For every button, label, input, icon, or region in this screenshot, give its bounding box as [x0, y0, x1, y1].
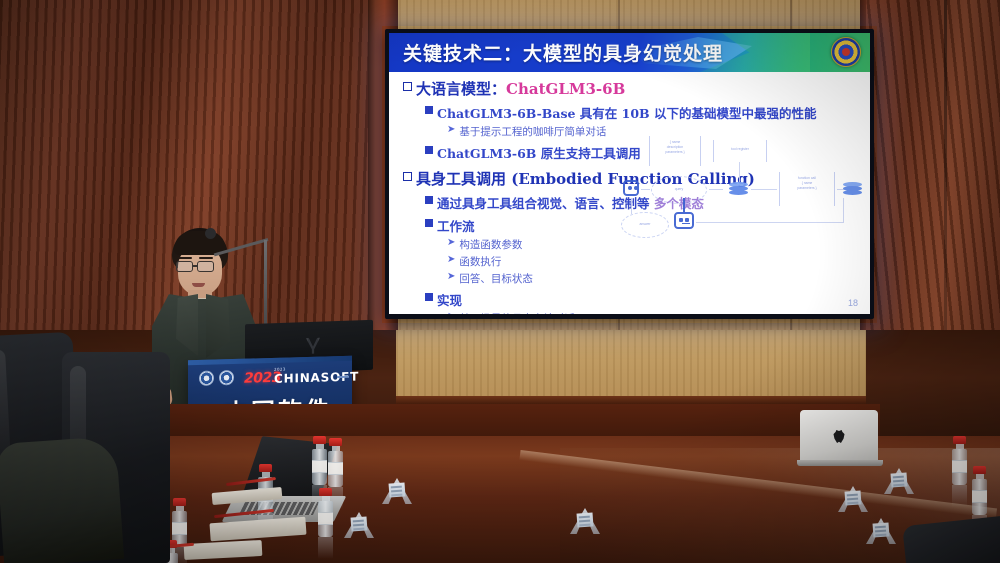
- slide-bullet: ➤ 基于场景的具身多轮对话: [447, 311, 870, 314]
- bullet-text: ChatGLM3-6B-Base 具有在 10B 以下的基础模型中最强的性能: [437, 103, 816, 122]
- name-card-holder: [838, 486, 868, 512]
- solid-square-bullet-icon: [425, 146, 433, 154]
- database-icon: [729, 182, 748, 198]
- solid-square-bullet-icon: [425, 106, 433, 114]
- bullet-text: 实现: [437, 290, 462, 309]
- solid-square-bullet-icon: [425, 293, 433, 301]
- water-bottle: [972, 466, 987, 515]
- slide-bullet: 实现: [425, 290, 870, 309]
- arrow-bullet-icon: ➤: [447, 255, 455, 265]
- slide-title: 关键技术二：大模型的具身幻觉处理: [403, 39, 723, 66]
- laptop-base: [797, 460, 883, 466]
- name-card-holder: [866, 518, 896, 544]
- arrow-bullet-icon: ➤: [447, 312, 455, 314]
- bullet-text: 回答、目标状态: [459, 271, 533, 286]
- presentation-display: 关键技术二：大模型的具身幻觉处理 大语言模型：ChatGLM3-6B ChatG…: [385, 29, 874, 319]
- slide-header-bar: 关键技术二：大模型的具身幻觉处理: [389, 33, 870, 72]
- diagram-connector: [696, 222, 844, 223]
- legion-logo-icon: [306, 338, 320, 354]
- database-icon: [843, 182, 862, 198]
- slide-body: 大语言模型：ChatGLM3-6B ChatGLM3-6B-Base 具有在 1…: [389, 72, 870, 314]
- bullet-text: 基于提示工程的咖啡厅简单对话: [459, 124, 606, 139]
- diagram-node-function-call: function call { name parameters }: [779, 176, 835, 191]
- water-bottle: [318, 488, 333, 537]
- podium-rule: [337, 376, 349, 378]
- glasses-lens: [176, 261, 193, 272]
- conference-room-screenshot: 关键技术二：大模型的具身幻觉处理 大语言模型：ChatGLM3-6B ChatG…: [0, 0, 1000, 563]
- diagram-connector: [751, 189, 777, 190]
- water-bottle: [328, 438, 343, 487]
- robot-icon: [674, 212, 694, 229]
- arrow-bullet-icon: ➤: [447, 125, 455, 135]
- macbook-laptop: [800, 410, 882, 468]
- university-emblem-icon: [831, 37, 861, 67]
- diagram-node-answer: answer: [621, 222, 669, 227]
- name-card-holder: [570, 508, 600, 534]
- slide-bullet: 大语言模型：ChatGLM3-6B: [403, 78, 870, 99]
- solid-square-bullet-icon: [425, 219, 433, 227]
- eyebrow: [178, 257, 192, 259]
- microphone-head-icon: [205, 228, 216, 239]
- arrow-bullet-icon: ➤: [447, 272, 455, 282]
- face-icon: [623, 180, 639, 196]
- diagram-node-tool-register: tool register: [713, 147, 767, 152]
- solid-square-bullet-icon: [425, 196, 433, 204]
- slide-bullet: ➤ 函数执行: [447, 254, 870, 269]
- bullet-text: 工作流: [437, 216, 475, 235]
- bullet-text: 函数执行: [459, 254, 501, 269]
- diagram-connector: [641, 189, 650, 190]
- name-card-holder: [884, 468, 914, 494]
- wall-seam: [944, 0, 947, 380]
- diagram-connector: [709, 189, 723, 190]
- hollow-square-bullet-icon: [403, 172, 412, 181]
- slide-surface: 关键技术二：大模型的具身幻觉处理 大语言模型：ChatGLM3-6B ChatG…: [389, 33, 870, 314]
- draped-jacket: [0, 436, 124, 563]
- diagram-node-query: query: [651, 187, 707, 192]
- podium-brand-en: CHINASOFT: [274, 370, 359, 386]
- water-bottle: [312, 436, 327, 485]
- conference-logo-a-icon: [199, 371, 214, 386]
- bullet-text: 基于场景的具身多轮对话: [459, 311, 575, 314]
- eyebrow: [199, 257, 213, 259]
- slide-bullet: ➤ 回答、目标状态: [447, 271, 870, 286]
- diagram-connector: [631, 198, 632, 214]
- water-bottle: [952, 436, 967, 485]
- conference-logo-b-icon: [219, 370, 234, 385]
- slide-bullet: ChatGLM3-6B-Base 具有在 10B 以下的基础模型中最强的性能: [425, 103, 870, 122]
- glasses-bridge: [193, 265, 198, 267]
- bullet-text: 构造函数参数: [459, 237, 522, 252]
- name-card-holder: [344, 512, 374, 538]
- name-card-holder: [382, 478, 412, 504]
- function-calling-flow-diagram: { name description parameters } tool reg…: [621, 136, 865, 251]
- slide-page-number: 18: [848, 298, 858, 308]
- diagram-connector: [843, 198, 844, 222]
- wall-panel-right: [866, 0, 1000, 380]
- mouth: [192, 283, 205, 287]
- hollow-square-bullet-icon: [403, 82, 412, 91]
- arrow-bullet-icon: ➤: [447, 238, 455, 248]
- glasses-lens: [197, 261, 214, 272]
- wainscot-panel: [396, 330, 866, 400]
- bullet-text: 大语言模型：ChatGLM3-6B: [416, 78, 625, 99]
- bullet-text: ChatGLM3-6B 原生支持工具调用: [437, 143, 641, 162]
- diagram-node-tool-schema: { name description parameters }: [649, 140, 701, 155]
- robot-antenna-icon: [683, 198, 685, 212]
- wainscot-rail: [396, 396, 866, 404]
